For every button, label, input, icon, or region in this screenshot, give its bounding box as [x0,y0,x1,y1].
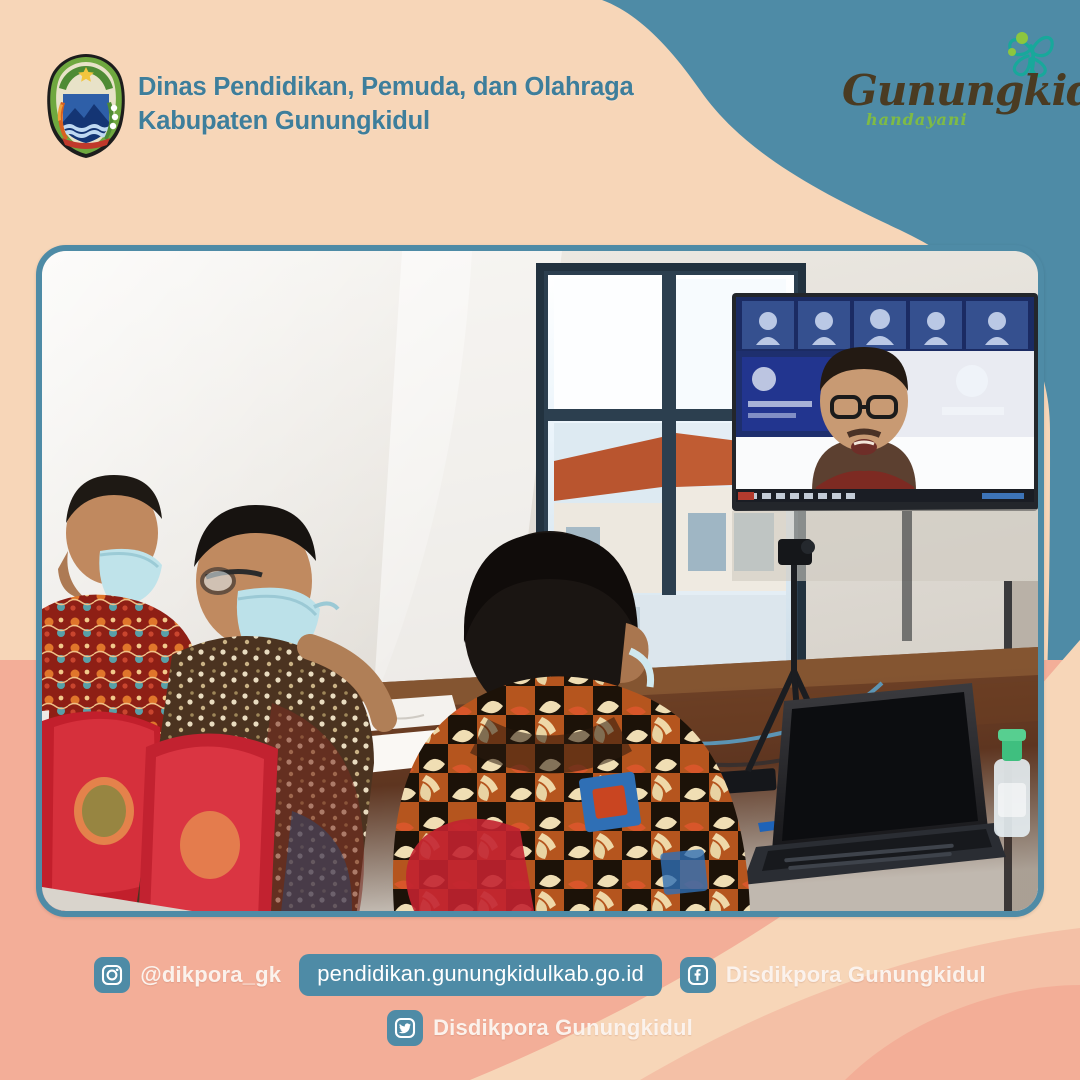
instagram-icon[interactable] [94,957,130,993]
website-url-pill[interactable]: pendidikan.gunungkidulkab.go.id [299,954,662,996]
twitter-handle-label: Disdikpora Gunungkidul [433,1015,693,1041]
regency-crest-icon [44,52,128,160]
event-photo [36,245,1044,917]
wall-mounted-tv [732,293,1038,511]
poster-canvas: Dinas Pendidikan, Pemuda, dan Olahraga K… [0,0,1080,1080]
footer-social-bar: @dikpora_gk pendidikan.gunungkidulkab.go… [0,940,1080,1080]
brandmark-tagline: handayani [866,110,968,129]
chair-2 [138,733,278,911]
footer-row-1: @dikpora_gk pendidikan.gunungkidulkab.go… [0,954,1080,996]
facebook-icon[interactable] [680,957,716,993]
instagram-handle-item[interactable]: @dikpora_gk [94,957,281,993]
brandmark-wordmark: Gunungkidul [842,66,1080,115]
footer-row-2: Disdikpora Gunungkidul [0,1010,1080,1046]
title-line-2: Kabupaten Gunungkidul [138,104,638,138]
facebook-page-item[interactable]: Disdikpora Gunungkidul [680,957,986,993]
page-title: Dinas Pendidikan, Pemuda, dan Olahraga K… [138,70,638,138]
title-line-1: Dinas Pendidikan, Pemuda, dan Olahraga [138,73,633,101]
facebook-page-label: Disdikpora Gunungkidul [726,962,986,988]
twitter-icon[interactable] [387,1010,423,1046]
photo-illustration [42,251,1038,911]
twitter-handle-item[interactable]: Disdikpora Gunungkidul [387,1010,693,1046]
gunungkidul-brandmark: Gunungkidul handayani [836,26,1066,144]
instagram-handle-label: @dikpora_gk [140,962,281,988]
video-participant [812,347,916,502]
